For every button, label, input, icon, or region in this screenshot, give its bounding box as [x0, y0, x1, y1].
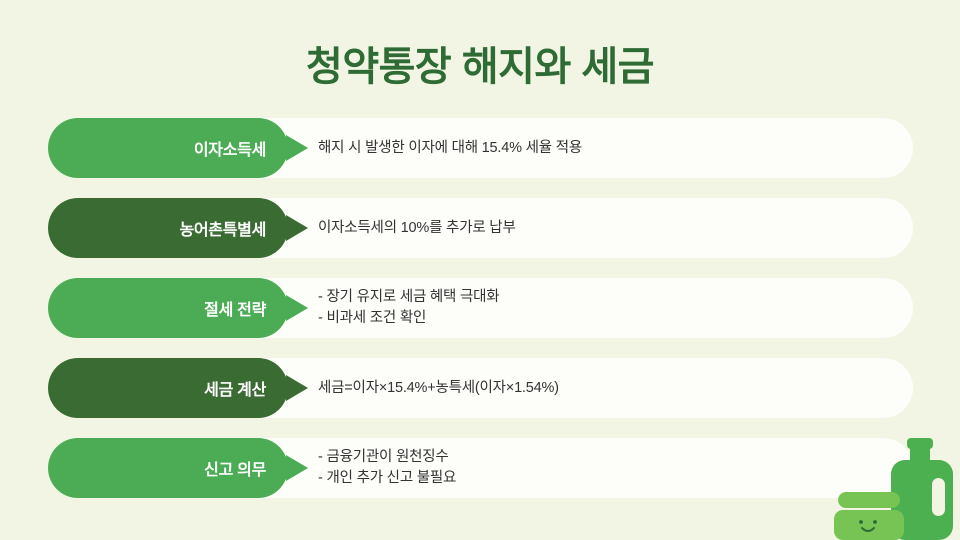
- arrow-tip-icon: [286, 455, 308, 481]
- row-body: 해지 시 발생한 이자에 대해 15.4% 세율 적용: [318, 118, 878, 178]
- row-label-pill[interactable]: 세금 계산: [48, 358, 288, 418]
- box-face-smile-icon: [862, 528, 874, 531]
- row-label-text: 신고 의무: [204, 456, 266, 480]
- row-label-pill[interactable]: 신고 의무: [48, 438, 288, 498]
- row-body-line: 이자소득세의 10%를 추가로 납부: [318, 218, 878, 239]
- row-body-line: - 장기 유지로 세금 혜택 극대화: [318, 287, 878, 308]
- box-face-right-eye-icon: [873, 520, 877, 524]
- table-row: 이자소득세 해지 시 발생한 이자에 대해 15.4% 세율 적용: [0, 118, 960, 178]
- arrow-tip-icon: [286, 215, 308, 241]
- row-body: - 금융기관이 원천징수 - 개인 추가 신고 불필요: [318, 438, 878, 498]
- slide-root: 청약통장 해지와 세금 이자소득세 해지 시 발생한 이자에 대해 15.4% …: [0, 0, 960, 540]
- rows-list: 이자소득세 해지 시 발생한 이자에 대해 15.4% 세율 적용 농어촌특별세…: [0, 118, 960, 518]
- table-row: 신고 의무 - 금융기관이 원천징수 - 개인 추가 신고 불필요: [0, 438, 960, 498]
- arrow-tip-icon: [286, 295, 308, 321]
- row-label-text: 세금 계산: [204, 376, 266, 400]
- box-face-left-eye-icon: [859, 520, 863, 524]
- row-label-text: 이자소득세: [194, 136, 266, 160]
- row-body-line: 세금=이자×15.4%+농특세(이자×1.54%): [318, 378, 878, 399]
- arrow-tip-icon: [286, 135, 308, 161]
- table-row: 세금 계산 세금=이자×15.4%+농특세(이자×1.54%): [0, 358, 960, 418]
- row-body: 이자소득세의 10%를 추가로 납부: [318, 198, 878, 258]
- arrow-tip-icon: [286, 375, 308, 401]
- row-body: 세금=이자×15.4%+농특세(이자×1.54%): [318, 358, 878, 418]
- row-body-line: 해지 시 발생한 이자에 대해 15.4% 세율 적용: [318, 138, 878, 159]
- row-label-pill[interactable]: 농어촌특별세: [48, 198, 288, 258]
- row-label-pill[interactable]: 이자소득세: [48, 118, 288, 178]
- table-row: 절세 전략 - 장기 유지로 세금 혜택 극대화 - 비과세 조건 확인: [0, 278, 960, 338]
- row-label-pill[interactable]: 절세 전략: [48, 278, 288, 338]
- page-title: 청약통장 해지와 세금: [0, 34, 960, 92]
- row-body-line: - 금융기관이 원천징수: [318, 447, 878, 468]
- row-body-line: - 비과세 조건 확인: [318, 308, 878, 329]
- row-body-line: - 개인 추가 신고 불필요: [318, 468, 878, 489]
- row-body: - 장기 유지로 세금 혜택 극대화 - 비과세 조건 확인: [318, 278, 878, 338]
- row-label-text: 농어촌특별세: [179, 216, 266, 240]
- table-row: 농어촌특별세 이자소득세의 10%를 추가로 납부: [0, 198, 960, 258]
- row-label-text: 절세 전략: [204, 296, 266, 320]
